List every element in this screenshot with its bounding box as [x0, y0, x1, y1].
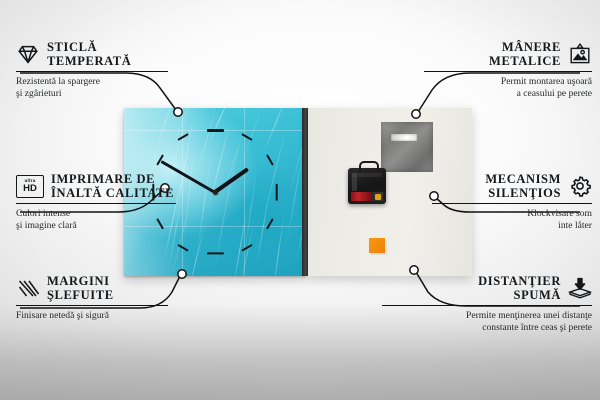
panel-band	[182, 108, 183, 276]
framed-picture-icon	[568, 43, 592, 65]
diamond-icon	[16, 43, 40, 65]
clock-center-cap	[213, 190, 218, 195]
callout-title: MÂNERE METALICE	[489, 40, 561, 68]
ultra-hd-icon-main: HD	[23, 184, 37, 194]
movement-hanging-loop	[359, 161, 379, 172]
callout-rule	[432, 203, 592, 204]
callout-rule	[424, 71, 592, 72]
callout-subtitle: Rezistentă la spargere şi zgârieturi	[16, 76, 168, 99]
product-assembly	[124, 108, 472, 276]
callout-rule	[382, 305, 592, 306]
clock-tick	[207, 252, 224, 254]
callout-foam-spacer: DISTANŢIER SPUMĂ Permite menţinerea unei…	[382, 274, 592, 333]
callout-tempered-glass: STICLĂ TEMPERATĂ Rezistentă la spargere …	[16, 40, 168, 99]
clock-movement[interactable]	[348, 168, 386, 204]
hanger-slot	[391, 134, 417, 141]
callout-title: MARGINI ŞLEFUITE	[47, 274, 114, 302]
callout-subtitle: Permit montarea uşoară a ceasului pe per…	[424, 76, 592, 99]
callout-header: DISTANŢIER SPUMĂ	[382, 274, 592, 302]
callout-subtitle: Permite menţinerea unei distanţe constan…	[382, 310, 592, 333]
callout-subtitle: Klockvisare som inte låter	[432, 208, 592, 231]
callout-title: STICLĂ TEMPERATĂ	[47, 40, 131, 68]
foam-spacer[interactable]	[369, 238, 385, 253]
diagonal-lines-icon	[16, 277, 40, 299]
callout-metal-handles: MÂNERE METALICE Permit montarea uşoară a…	[424, 40, 592, 99]
callout-title: IMPRIMARE DE ÎNALTĂ CALITATE	[51, 172, 174, 200]
callout-subtitle: Culori intense şi imagine clară	[16, 208, 176, 231]
callout-title: DISTANŢIER SPUMĂ	[478, 274, 561, 302]
callout-print-quality: ultra HD IMPRIMARE DE ÎNALTĂ CALITATE Cu…	[16, 172, 176, 231]
gear-icon	[568, 175, 592, 197]
movement-casing-detail	[352, 173, 382, 191]
callout-polished-edges: MARGINI ŞLEFUITE Finisare netedă şi sigu…	[16, 274, 168, 322]
callout-title: MECANISM SILENŢIOS	[485, 172, 561, 200]
callout-header: MECANISM SILENŢIOS	[432, 172, 592, 200]
callout-subtitle: Finisare netedă şi sigură	[16, 310, 168, 321]
callout-header: STICLĂ TEMPERATĂ	[16, 40, 168, 68]
panel-band	[244, 108, 245, 276]
metal-hanger-plate[interactable]	[381, 122, 433, 172]
arrow-press-pad-icon	[568, 277, 592, 299]
callout-silent-mechanism: MECANISM SILENŢIOS Klockvisare som inte …	[432, 172, 592, 231]
infographic-canvas: STICLĂ TEMPERATĂ Rezistentă la spargere …	[0, 0, 600, 400]
clock-tick	[275, 183, 277, 200]
callout-header: ultra HD IMPRIMARE DE ÎNALTĂ CALITATE	[16, 172, 176, 200]
ultra-hd-icon: ultra HD	[16, 175, 44, 198]
callout-rule	[16, 203, 176, 204]
callout-rule	[16, 71, 168, 72]
battery-terminal	[375, 194, 381, 200]
callout-rule	[16, 305, 168, 306]
callout-header: MÂNERE METALICE	[424, 40, 592, 68]
callout-header: MARGINI ŞLEFUITE	[16, 274, 168, 302]
